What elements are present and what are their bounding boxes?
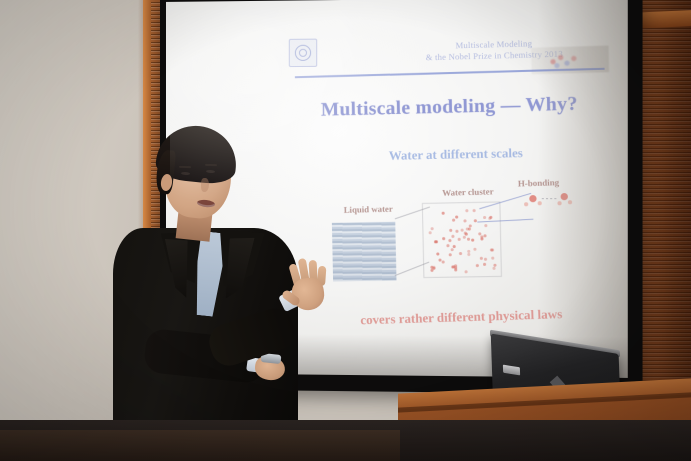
water-molecule-dot: [455, 230, 458, 233]
water-molecule-dot: [473, 247, 476, 250]
university-seal-icon: [289, 39, 317, 67]
water-molecule-dot: [483, 216, 486, 219]
water-molecule-dot: [442, 237, 445, 240]
water-molecule-dot: [483, 263, 486, 266]
water-molecule-dot: [472, 209, 475, 212]
water-molecule-dot: [451, 235, 454, 238]
water-molecule-dot: [471, 239, 474, 242]
presenter-hand-right: [284, 257, 333, 314]
water-molecule-dot: [451, 248, 454, 251]
screen-unlit-edge: [538, 0, 628, 378]
water-molecule-dot: [465, 209, 468, 212]
water-cluster-diagram: [422, 201, 502, 278]
water-molecule-dot: [442, 260, 445, 263]
water-molecule-dot: [459, 252, 462, 255]
water-molecule-dot: [442, 212, 445, 215]
water-molecule-dot: [483, 235, 486, 238]
water-molecule-dot: [449, 253, 452, 256]
lecture-photo: Multiscale Modeling & the Nobel Prize in…: [0, 0, 691, 461]
water-molecule-dot: [467, 253, 470, 256]
water-molecule-dot: [458, 238, 461, 241]
label-water-cluster: Water cluster: [442, 186, 494, 198]
water-molecule-dot: [436, 252, 439, 255]
water-molecule-dot: [446, 244, 449, 247]
water-molecule-dot: [435, 240, 438, 243]
water-molecule-dot: [464, 270, 467, 273]
water-molecule-dot: [468, 228, 471, 231]
water-molecule-dot: [467, 238, 470, 241]
water-molecule-dot: [464, 232, 467, 235]
hbond-oxygen-left: [529, 195, 536, 202]
presenter-eyebrow-right: [205, 164, 217, 166]
water-molecule-dot: [475, 264, 478, 267]
presenter-eyebrow-left: [179, 166, 191, 168]
water-molecule-dot: [452, 219, 455, 222]
floor-strip: [0, 430, 400, 461]
water-molecule-dot: [455, 215, 458, 218]
water-molecule-dot: [464, 220, 467, 223]
water-molecule-dot: [428, 231, 431, 234]
presenter: [105, 120, 365, 461]
water-molecule-dot: [449, 239, 452, 242]
water-molecule-dot: [480, 257, 483, 260]
water-molecule-dot: [467, 250, 470, 253]
water-molecule-dot: [430, 227, 433, 230]
water-molecule-dot: [492, 267, 495, 270]
water-molecule-dot: [484, 224, 487, 227]
water-molecule-dot: [490, 248, 493, 251]
hbond-hydrogen-left-a: [524, 202, 528, 206]
water-molecule-dot: [488, 216, 491, 219]
water-molecule-dot: [484, 257, 487, 260]
water-molecule-dot: [438, 258, 441, 261]
water-molecule-dot: [449, 229, 452, 232]
water-molecule-dot: [451, 265, 454, 268]
water-molecule-dot: [462, 236, 465, 239]
water-molecule-dot: [491, 256, 494, 259]
